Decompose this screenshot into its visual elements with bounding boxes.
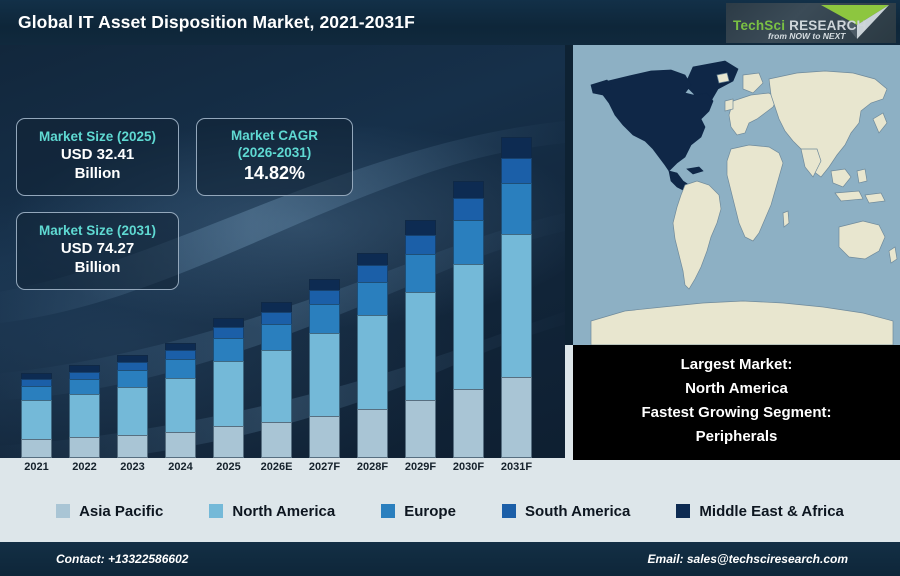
bar-segment-asia-pacific xyxy=(117,435,148,458)
chart-panel: Market Size (2025) USD 32.41 Billion Mar… xyxy=(0,45,565,470)
bar-segment-north-america xyxy=(165,378,196,432)
chart-legend: Asia PacificNorth AmericaEuropeSouth Ame… xyxy=(0,480,900,542)
bar-segment-europe xyxy=(501,183,532,234)
bar-segment-europe xyxy=(357,282,388,315)
x-axis-tick-2023: 2023 xyxy=(109,461,157,473)
bar-segment-asia-pacific xyxy=(309,416,340,458)
bar-segment-middle-east-africa xyxy=(165,343,196,350)
legend-item-europe[interactable]: Europe xyxy=(381,503,456,520)
footer-bar: Contact: +13322586602 Email: sales@techs… xyxy=(0,542,900,576)
bar-segment-europe xyxy=(213,338,244,361)
bar-2021 xyxy=(21,373,52,458)
bar-segment-europe xyxy=(69,379,100,394)
note-line-largest-market-value: North America xyxy=(573,377,900,401)
key-findings-note: Largest Market: North America Fastest Gr… xyxy=(573,345,900,460)
x-axis-labels: 202120222023202420252026E2027F2028F2029F… xyxy=(0,458,565,480)
bar-segment-north-america xyxy=(117,387,148,435)
legend-label: South America xyxy=(525,503,630,520)
bar-2024 xyxy=(165,343,196,458)
bar-segment-south-america xyxy=(21,379,52,386)
bar-segment-asia-pacific xyxy=(357,409,388,458)
footer-contact: Contact: +13322586602 xyxy=(56,552,188,566)
bar-2027F xyxy=(309,279,340,458)
bar-segment-north-america xyxy=(309,333,340,416)
bar-segment-asia-pacific xyxy=(453,389,484,458)
legend-label: Europe xyxy=(404,503,456,520)
bar-segment-north-america xyxy=(405,292,436,400)
bar-segment-asia-pacific xyxy=(21,439,52,458)
legend-item-north-america[interactable]: North America xyxy=(209,503,335,520)
legend-item-south-america[interactable]: South America xyxy=(502,503,630,520)
x-axis-tick-2021: 2021 xyxy=(13,461,61,473)
note-line-fastest-segment-label: Fastest Growing Segment: xyxy=(573,401,900,425)
bar-segment-south-america xyxy=(117,362,148,370)
x-axis-tick-2025: 2025 xyxy=(205,461,253,473)
bar-segment-europe xyxy=(165,359,196,378)
page-title: Global IT Asset Disposition Market, 2021… xyxy=(18,12,415,33)
bar-segment-south-america xyxy=(501,158,532,184)
bar-segment-asia-pacific xyxy=(261,422,292,458)
bar-segment-middle-east-africa xyxy=(405,220,436,235)
world-map-svg xyxy=(573,45,900,345)
legend-swatch-icon xyxy=(502,504,516,518)
map-region-indonesia-2 xyxy=(865,193,885,203)
bar-2023 xyxy=(117,355,148,458)
world-map xyxy=(573,45,900,345)
techsci-research-logo: TechSci RESEARCH from NOW to NEXT xyxy=(726,3,896,43)
header-bar: Global IT Asset Disposition Market, 2021… xyxy=(0,0,900,45)
legend-swatch-icon xyxy=(209,504,223,518)
bar-segment-middle-east-africa xyxy=(261,302,292,312)
bar-segment-europe xyxy=(261,324,292,350)
x-axis-tick-2022: 2022 xyxy=(61,461,109,473)
bar-segment-europe xyxy=(405,254,436,292)
bar-segment-south-america xyxy=(165,350,196,359)
infographic-root: Global IT Asset Disposition Market, 2021… xyxy=(0,0,900,576)
x-axis-tick-2030F: 2030F xyxy=(445,461,493,473)
legend-label: Middle East & Africa xyxy=(699,503,843,520)
bar-segment-asia-pacific xyxy=(213,426,244,458)
x-axis-tick-2026E: 2026E xyxy=(253,461,301,473)
map-region-british-isles xyxy=(725,99,733,111)
bar-segment-north-america xyxy=(453,264,484,389)
bar-segment-south-america xyxy=(405,235,436,254)
bar-segment-asia-pacific xyxy=(501,377,532,458)
x-axis-tick-2024: 2024 xyxy=(157,461,205,473)
stacked-bar-plot-area xyxy=(0,45,565,458)
bar-segment-south-america xyxy=(309,290,340,304)
legend-item-middle-east-africa[interactable]: Middle East & Africa xyxy=(676,503,843,520)
bar-segment-north-america xyxy=(261,350,292,422)
bar-segment-asia-pacific xyxy=(405,400,436,458)
x-axis-tick-2031F: 2031F xyxy=(493,461,541,473)
bar-2025 xyxy=(213,318,244,458)
bar-segment-south-america xyxy=(69,372,100,379)
bar-segment-asia-pacific xyxy=(165,432,196,458)
bar-2031F xyxy=(501,137,532,458)
bar-segment-europe xyxy=(309,304,340,333)
legend-swatch-icon xyxy=(676,504,690,518)
x-axis-tick-2027F: 2027F xyxy=(301,461,349,473)
x-axis-tick-2029F: 2029F xyxy=(397,461,445,473)
bar-segment-north-america xyxy=(213,361,244,426)
bar-segment-europe xyxy=(117,370,148,387)
bar-segment-south-america xyxy=(357,265,388,281)
bar-segment-europe xyxy=(453,220,484,264)
legend-swatch-icon xyxy=(56,504,70,518)
bar-segment-middle-east-africa xyxy=(309,279,340,290)
legend-item-asia-pacific[interactable]: Asia Pacific xyxy=(56,503,163,520)
footer-email: Email: sales@techsciresearch.com xyxy=(648,552,848,566)
world-map-panel xyxy=(565,45,900,345)
bar-segment-south-america xyxy=(261,312,292,325)
note-line-largest-market-label: Largest Market: xyxy=(573,353,900,377)
bar-segment-middle-east-africa xyxy=(501,137,532,158)
bar-2026E xyxy=(261,302,292,458)
legend-label: North America xyxy=(232,503,335,520)
map-region-philippines xyxy=(857,169,867,183)
bar-segment-europe xyxy=(21,386,52,400)
legend-swatch-icon xyxy=(381,504,395,518)
bar-2029F xyxy=(405,220,436,458)
bar-segment-middle-east-africa xyxy=(213,318,244,327)
bar-segment-south-america xyxy=(213,327,244,338)
note-line-fastest-segment-value: Peripherals xyxy=(573,425,900,449)
bar-2030F xyxy=(453,181,484,458)
bar-segment-north-america xyxy=(501,234,532,377)
bar-segment-middle-east-africa xyxy=(453,181,484,198)
logo-tagline: from NOW to NEXT xyxy=(768,31,845,41)
map-region-iceland xyxy=(717,73,729,83)
bar-segment-north-america xyxy=(21,400,52,440)
bar-segment-asia-pacific xyxy=(69,437,100,458)
bar-segment-north-america xyxy=(69,394,100,437)
bar-segment-south-america xyxy=(453,198,484,220)
bar-segment-middle-east-africa xyxy=(357,253,388,266)
legend-label: Asia Pacific xyxy=(79,503,163,520)
bar-2022 xyxy=(69,365,100,458)
bar-segment-north-america xyxy=(357,315,388,409)
x-axis-tick-2028F: 2028F xyxy=(349,461,397,473)
bar-2028F xyxy=(357,253,388,458)
